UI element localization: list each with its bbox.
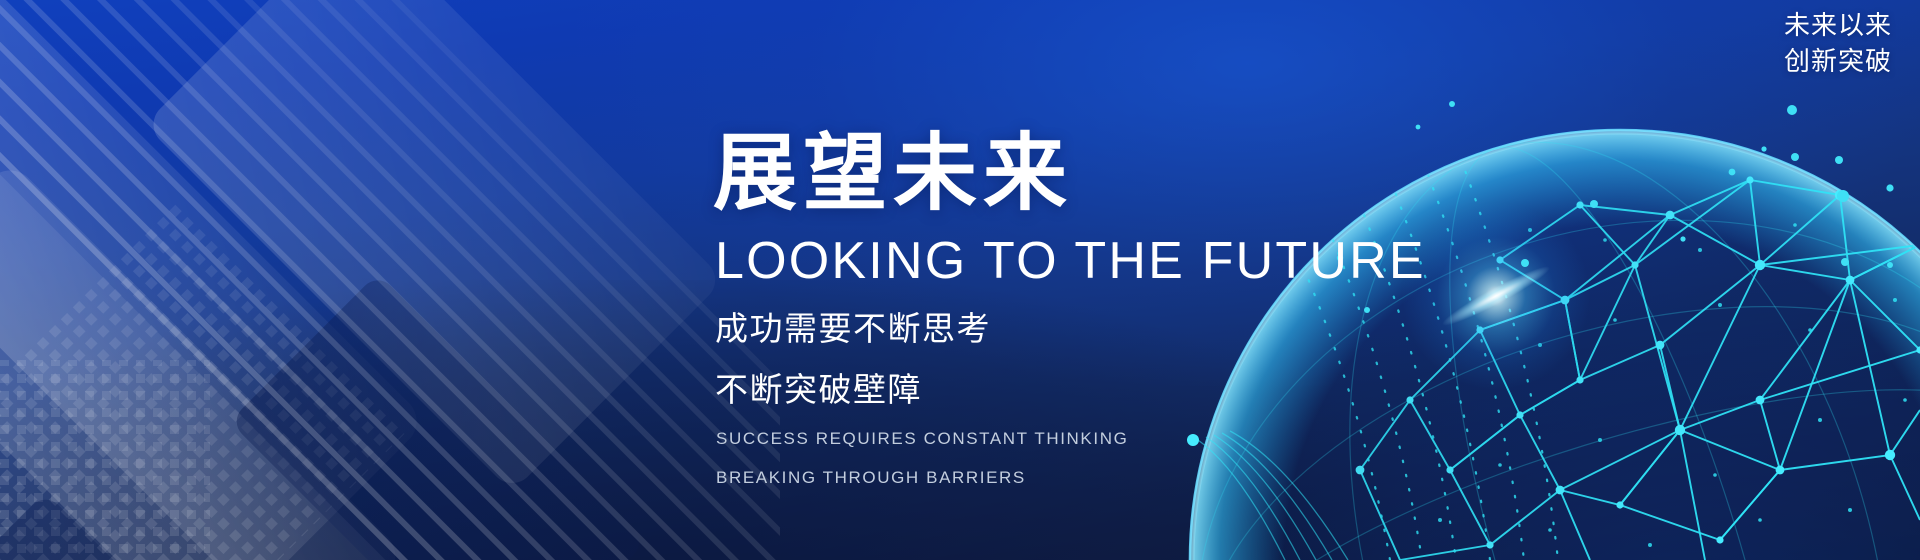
subtitle-chinese-line-2: 不断突破壁障 xyxy=(715,367,1473,414)
corner-slogan-line-1: 未来以来 xyxy=(1784,8,1892,44)
surface-dots xyxy=(1438,213,1907,547)
diagonal-line-band-b xyxy=(0,0,780,560)
checker-dot-grid xyxy=(0,200,405,560)
headline-chinese: 展望未来 xyxy=(713,128,1473,219)
headline-english: LOOKING TO THE FUTURE xyxy=(715,231,1473,292)
left-geometric-pattern xyxy=(0,0,780,560)
subtitle-english-line-2: BREAKING THROUGH BARRIERS xyxy=(716,465,1473,492)
corner-slogan-line-2: 创新突破 xyxy=(1784,44,1892,80)
subtitle-english-line-1: SUCCESS REQUIRES CONSTANT THINKING xyxy=(716,426,1473,453)
promo-banner: 未来以来 创新突破 展望未来 LOOKING TO THE FUTURE 成功需… xyxy=(0,0,1920,560)
diagonal-line-band-a xyxy=(0,225,355,560)
main-text-block: 展望未来 LOOKING TO THE FUTURE 成功需要不断思考 不断突破… xyxy=(713,128,1473,492)
corner-slogan: 未来以来 创新突破 xyxy=(1784,8,1892,80)
subtitle-chinese-line-1: 成功需要不断思考 xyxy=(715,306,1473,353)
